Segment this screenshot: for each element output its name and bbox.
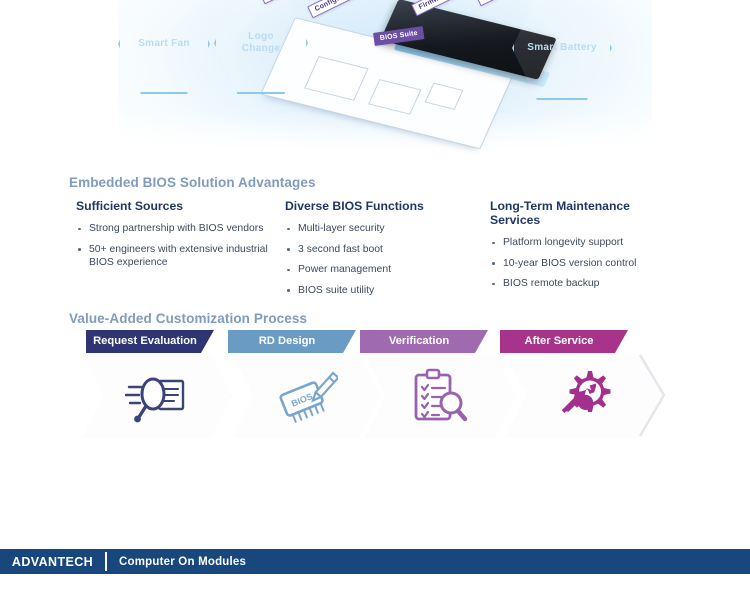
process-trailing-chevron bbox=[638, 353, 668, 438]
hexagon-label: Logo Change bbox=[216, 31, 306, 55]
advantages-column-diverse-bios-functions: Diverse BIOS Functions Multi-layer secur… bbox=[285, 199, 475, 304]
list-item: Strong partnership with BIOS vendors bbox=[76, 222, 276, 236]
hero-illustration: Smart Fan Logo Change Smart Battery Util… bbox=[0, 0, 750, 158]
process-step-panel bbox=[82, 353, 232, 438]
board-chip bbox=[304, 56, 369, 101]
clipboard-search-icon bbox=[408, 367, 472, 425]
process-step-banner: RD Design bbox=[228, 330, 356, 353]
column-title: Diverse BIOS Functions bbox=[285, 199, 475, 213]
footer-bar: ADVANTECH Computer On Modules bbox=[0, 549, 750, 574]
process-step-rd-design: RD Design BIOS bbox=[228, 330, 356, 353]
hexagon-label: Smart Fan bbox=[120, 38, 208, 50]
footer-title: Computer On Modules bbox=[119, 556, 246, 568]
gear-wrench-icon bbox=[552, 367, 616, 425]
advantages-heading: Embedded BIOS Solution Advantages bbox=[69, 175, 316, 190]
board-chip bbox=[425, 83, 464, 110]
list-item: 50+ engineers with extensive industrial … bbox=[76, 243, 276, 270]
process-step-after-service: After Service bbox=[500, 330, 628, 353]
process-step-panel bbox=[364, 353, 516, 438]
process-step-panel: BIOS bbox=[232, 353, 380, 438]
list-item: Platform longevity support bbox=[490, 236, 670, 250]
process-step-banner: After Service bbox=[500, 330, 628, 353]
list-item: 10-year BIOS version control bbox=[490, 257, 670, 271]
list-item: BIOS remote backup bbox=[490, 277, 670, 291]
list-item: 3 second fast boot bbox=[285, 243, 475, 257]
process-step-banner: Request Evaluation bbox=[86, 330, 214, 353]
bios-chip-pencil-icon: BIOS bbox=[274, 367, 338, 425]
board-chip bbox=[368, 79, 421, 115]
column-bullet-list: Multi-layer security 3 second fast boot … bbox=[285, 222, 475, 297]
list-item: Power management bbox=[285, 263, 475, 277]
magnifier-document-icon bbox=[125, 367, 189, 425]
process-step-verification: Verification bbox=[360, 330, 488, 353]
process-heading: Value-Added Customization Process bbox=[69, 311, 307, 326]
hexagon-label: Smart Battery bbox=[514, 42, 610, 54]
process-step-banner: Verification bbox=[360, 330, 488, 353]
list-item: BIOS suite utility bbox=[285, 284, 475, 298]
footer-divider bbox=[105, 552, 107, 571]
advantech-logo: ADVANTECH bbox=[0, 555, 105, 569]
customization-process-flow: Request Evaluation RD Desig bbox=[0, 330, 750, 460]
process-step-request-evaluation: Request Evaluation bbox=[86, 330, 214, 353]
advantages-column-long-term-maintenance: Long-Term Maintenance Services Platform … bbox=[490, 199, 670, 298]
advantages-column-sufficient-sources: Sufficient Sources Strong partnership wi… bbox=[76, 199, 276, 277]
column-bullet-list: Platform longevity support 10-year BIOS … bbox=[490, 236, 670, 291]
column-bullet-list: Strong partnership with BIOS vendors 50+… bbox=[76, 222, 276, 270]
column-title: Long-Term Maintenance Services bbox=[490, 199, 670, 227]
column-title: Sufficient Sources bbox=[76, 199, 276, 213]
list-item: Multi-layer security bbox=[285, 222, 475, 236]
